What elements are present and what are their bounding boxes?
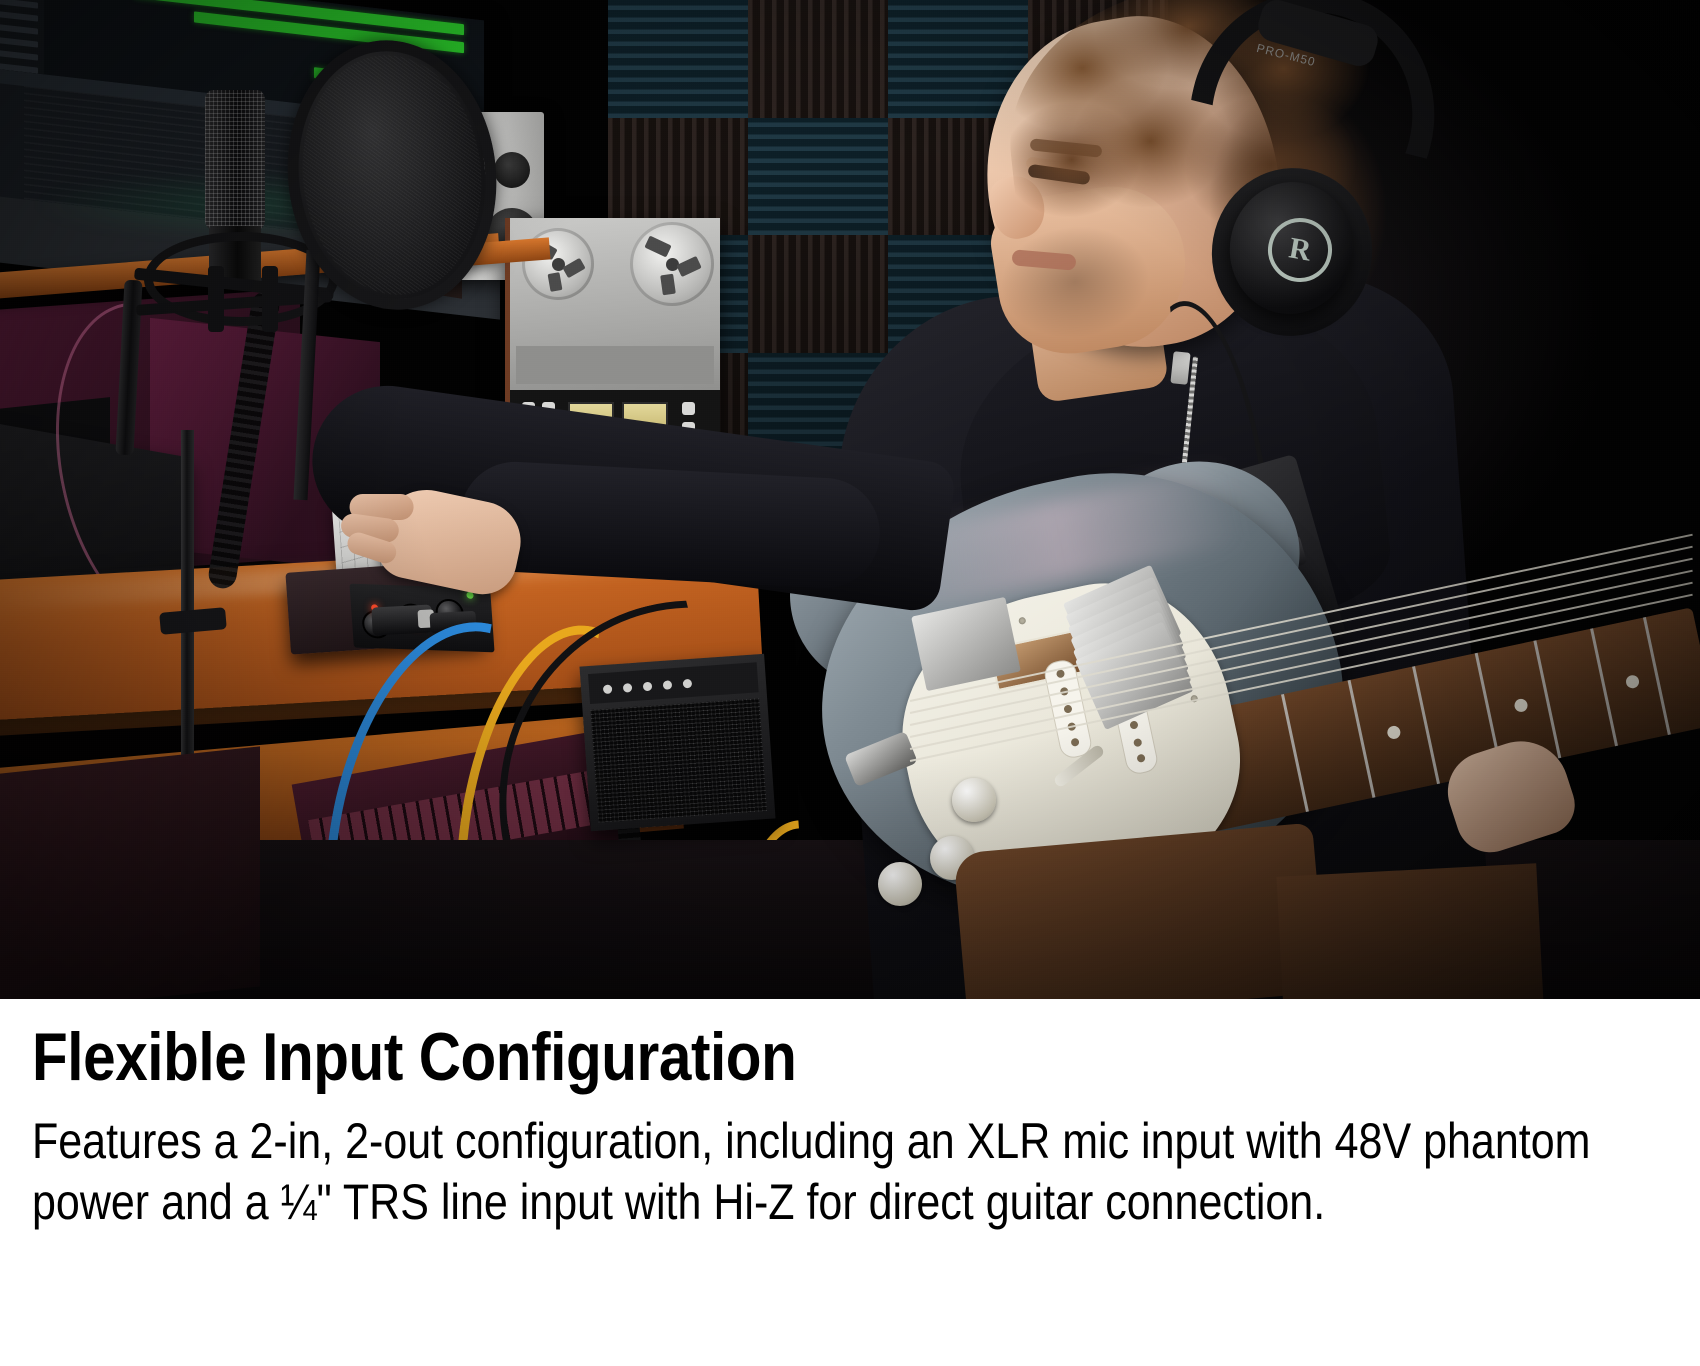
volume-knob: [952, 778, 996, 822]
tweeter: [494, 152, 530, 188]
leg-secondary: [1277, 863, 1544, 999]
xlr-connector: [371, 604, 432, 635]
feature-description: Features a 2-in, 2-out configuration, in…: [32, 1111, 1700, 1233]
tape-reel-right: [630, 222, 714, 306]
studio-photo: PRO-M50 R: [0, 0, 1700, 999]
tone-knob-2: [878, 862, 922, 906]
feature-headline: Flexible Input Configuration: [32, 1023, 796, 1091]
caption-block: Flexible Input Configuration Features a …: [0, 999, 1700, 1366]
mic-grille: [205, 90, 265, 230]
transport-panel: [516, 346, 714, 384]
musician: PRO-M50 R: [760, 0, 1700, 999]
guitar-amp: [579, 654, 775, 832]
floor-left: [0, 746, 260, 999]
forearm: [457, 459, 882, 591]
leg: [953, 823, 1326, 999]
promo-feature-card: PRO-M50 R: [0, 0, 1700, 1366]
